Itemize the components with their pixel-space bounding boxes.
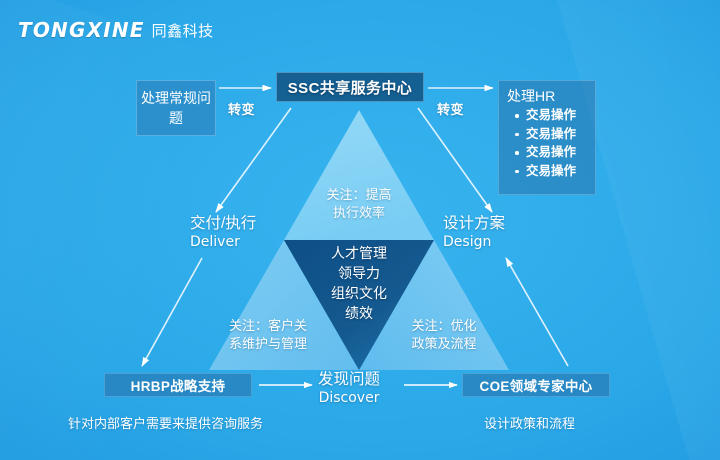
core-line-1: 人才管理 [300,243,418,263]
arrow-deliver-to-hrbp [142,258,202,366]
core-line-3: 组织文化 [300,283,418,303]
corner-design-en: Design [443,233,505,252]
list-item: 交易操作 [513,125,589,144]
core-line-2: 领导力 [300,263,418,283]
arrow-ssc-to-deliver [216,108,291,212]
coe-box: COE领域专家中心 [462,373,610,397]
focus-top-caption: 关注：提高 执行效率 [300,186,418,222]
corner-design-cn: 设计方案 [443,214,505,233]
arrow-ssc-to-design [418,108,492,212]
logo-text-en: TONGXINE [18,18,145,42]
hr-transaction-list: 交易操作 交易操作 交易操作 交易操作 [507,106,589,180]
focus-top-line1: 关注：提高 [300,186,418,204]
hr-box-title: 处理HR [507,87,589,105]
arrow-coe-to-design [506,258,568,366]
logo-text-cn: 同鑫科技 [152,20,214,41]
hrbp-footnote: 针对内部客户需要来提供咨询服务 [68,413,263,432]
list-item: 交易操作 [513,143,589,162]
list-item: 交易操作 [513,106,589,125]
transform-label-left: 转变 [228,99,255,118]
routine-issues-box: 处理常规问题 [136,80,216,136]
core-triangle-text: 人才管理 领导力 组织文化 绩效 [300,243,418,323]
focus-br-line2: 政策及流程 [392,335,496,353]
corner-label-design: 设计方案 Design [443,214,505,252]
focus-bl-line2: 系维护与管理 [213,335,323,353]
hr-transactions-box: 处理HR 交易操作 交易操作 交易操作 交易操作 [498,80,596,195]
core-line-4: 绩效 [300,303,418,323]
corner-deliver-cn: 交付/执行 [190,214,256,233]
list-item: 交易操作 [513,162,589,181]
corner-label-discover: 发现问题 Discover [318,370,380,408]
coe-footnote: 设计政策和流程 [484,413,575,432]
brand-logo: TONGXINE 同鑫科技 [18,18,214,42]
hrbp-box: HRBP战略支持 [104,373,252,397]
transform-label-right: 转变 [437,99,464,118]
corner-discover-en: Discover [318,389,380,408]
corner-discover-cn: 发现问题 [318,370,380,389]
corner-deliver-en: Deliver [190,233,256,252]
corner-label-deliver: 交付/执行 Deliver [190,214,256,252]
slide-canvas: TONGXINE 同鑫科技 处理常规问题 转变 SSC共享服务中心 转变 处理H… [0,0,720,460]
focus-top-line2: 执行效率 [300,204,418,222]
ssc-center-box: SSC共享服务中心 [276,72,424,102]
